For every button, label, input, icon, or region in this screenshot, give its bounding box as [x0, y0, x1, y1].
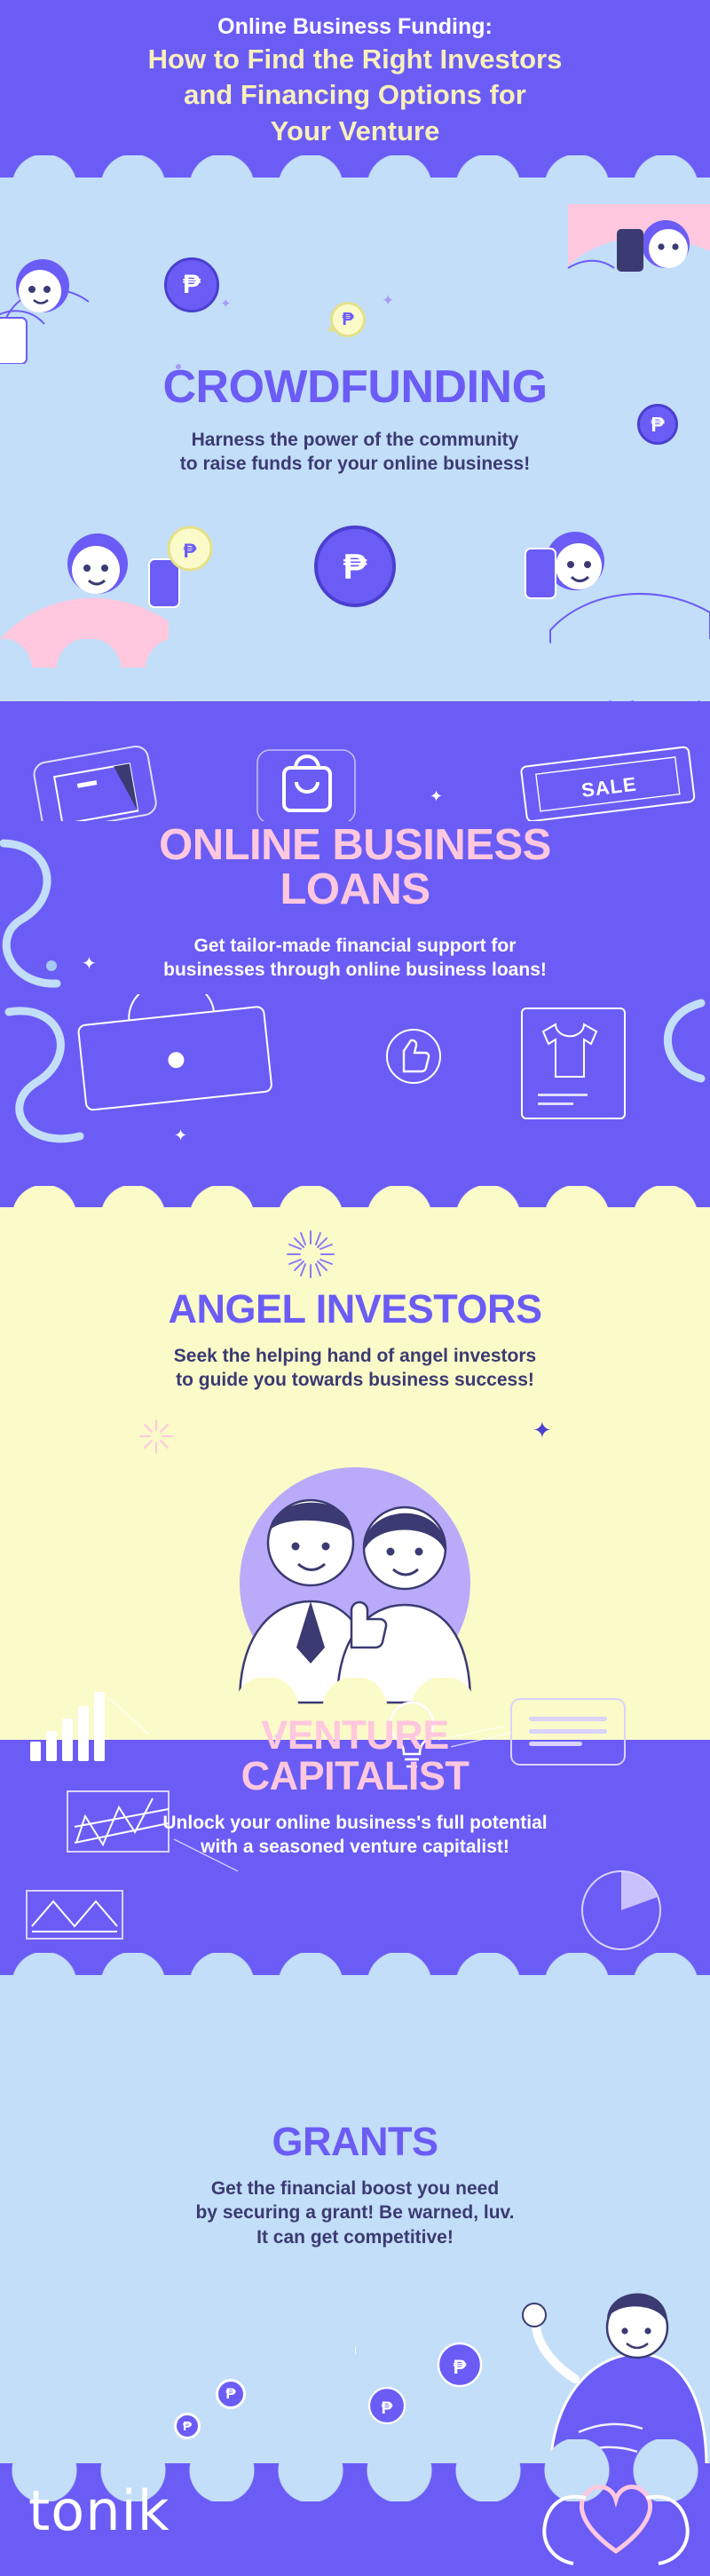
crowdfunding-illustration-left: [0, 213, 169, 364]
title-line-4: Your Venture: [0, 114, 710, 149]
tonik-logo-text: tonik: [28, 2478, 170, 2543]
loans-swirl-left: ✦: [0, 834, 133, 994]
grants-subtitle-line-2: by securing a grant! Be warned, luv.: [0, 2201, 710, 2224]
grants-subtitle-line-1: Get the financial boost you need: [0, 2177, 710, 2201]
tonik-logo[interactable]: tonik: [28, 2478, 170, 2543]
svg-text:₱: ₱: [454, 2356, 467, 2378]
grants-illustration: ₱ ₱: [355, 2246, 710, 2468]
peso-symbol: ₱: [183, 2419, 192, 2434]
angel-starburst-top: [286, 1229, 335, 1279]
svg-text:✦: ✦: [174, 1126, 187, 1145]
grants-heading: GRANTS: [0, 2122, 710, 2162]
crowdfunding-heading: CROWDFUNDING: [0, 364, 710, 411]
angel-subtitle-block: Seek the helping hand of angel investors…: [0, 1344, 710, 1393]
angel-subtitle-line-2: to guide you towards business success!: [0, 1368, 710, 1392]
sparkle-icon: ✦: [532, 1418, 552, 1442]
angel-heading-block: ANGEL INVESTORS: [0, 1289, 710, 1330]
svg-text:✦: ✦: [524, 2461, 525, 2483]
header-title-block: Online Business Funding: How to Find the…: [0, 12, 710, 149]
sparkle-icon: ✦: [220, 297, 232, 311]
peso-coin-small-yellow: ₱: [330, 302, 366, 337]
venture-subtitle-line-1: Unlock your online business's full poten…: [0, 1811, 710, 1835]
grants-subtitle-block: Get the financial boost you need by secu…: [0, 2177, 710, 2249]
peso-symbol: ₱: [225, 2385, 235, 2403]
svg-text:₱: ₱: [184, 540, 197, 562]
peso-coin-large: ₱: [164, 257, 219, 312]
grants-heading-block: GRANTS: [0, 2122, 710, 2162]
angel-heading: ANGEL INVESTORS: [0, 1289, 710, 1330]
crowdfunding-subtitle-line-2: to raise funds for your online business!: [0, 452, 710, 476]
peso-coin-yellow-mid: [328, 327, 334, 332]
crowdfunding-illustration-right: [532, 204, 710, 346]
crowdfunding-subtitle-block: Harness the power of the community to ra…: [0, 428, 710, 477]
peso-symbol: ₱: [183, 270, 201, 300]
venture-heading-line-1: VENTURE: [0, 1715, 710, 1756]
peso-coin-grants-2: ₱: [174, 2413, 201, 2439]
svg-text:✦: ✦: [430, 787, 443, 806]
venture-subtitle-block: Unlock your online business's full poten…: [0, 1811, 710, 1860]
svg-text:✦: ✦: [82, 952, 97, 974]
title-line-2: How to Find the Right Investors: [0, 42, 710, 77]
title-line-1: Online Business Funding:: [0, 12, 710, 42]
crowdfunding-subtitle-line-1: Harness the power of the community: [0, 428, 710, 452]
svg-text:SALE: SALE: [580, 773, 638, 802]
cloud-edge-angel-top-2: [0, 1216, 710, 1278]
cloud-edge-grants-top-2: [0, 1985, 710, 2047]
peso-coin-grants-1: ₱: [216, 2379, 246, 2409]
loans-icons-top: SALE ✦: [0, 715, 710, 821]
svg-text:₱: ₱: [343, 548, 367, 587]
venture-subtitle-line-2: with a seasoned venture capitalist!: [0, 1835, 710, 1859]
sparkle-icon: ✦: [382, 293, 394, 308]
peso-symbol: ₱: [342, 310, 353, 330]
venture-heading-block: VENTURE CAPITALIST: [0, 1715, 710, 1797]
venture-heading-line-2: CAPITALIST: [0, 1756, 710, 1797]
svg-text:₱: ₱: [382, 2399, 393, 2418]
cloud-edge-crowdfunding-bottom-2: [0, 639, 710, 701]
loans-icons-bottom: ✦: [0, 994, 710, 1163]
angel-subtitle-line-1: Seek the helping hand of angel investors: [0, 1344, 710, 1368]
angel-starburst-left: [138, 1418, 174, 1454]
infographic-page: Online Business Funding: How to Find the…: [0, 0, 710, 2576]
crowdfunding-heading-block: CROWDFUNDING: [0, 364, 710, 411]
title-line-3: and Financing Options for: [0, 77, 710, 113]
footer-heart-hands: ✦: [524, 2459, 710, 2576]
